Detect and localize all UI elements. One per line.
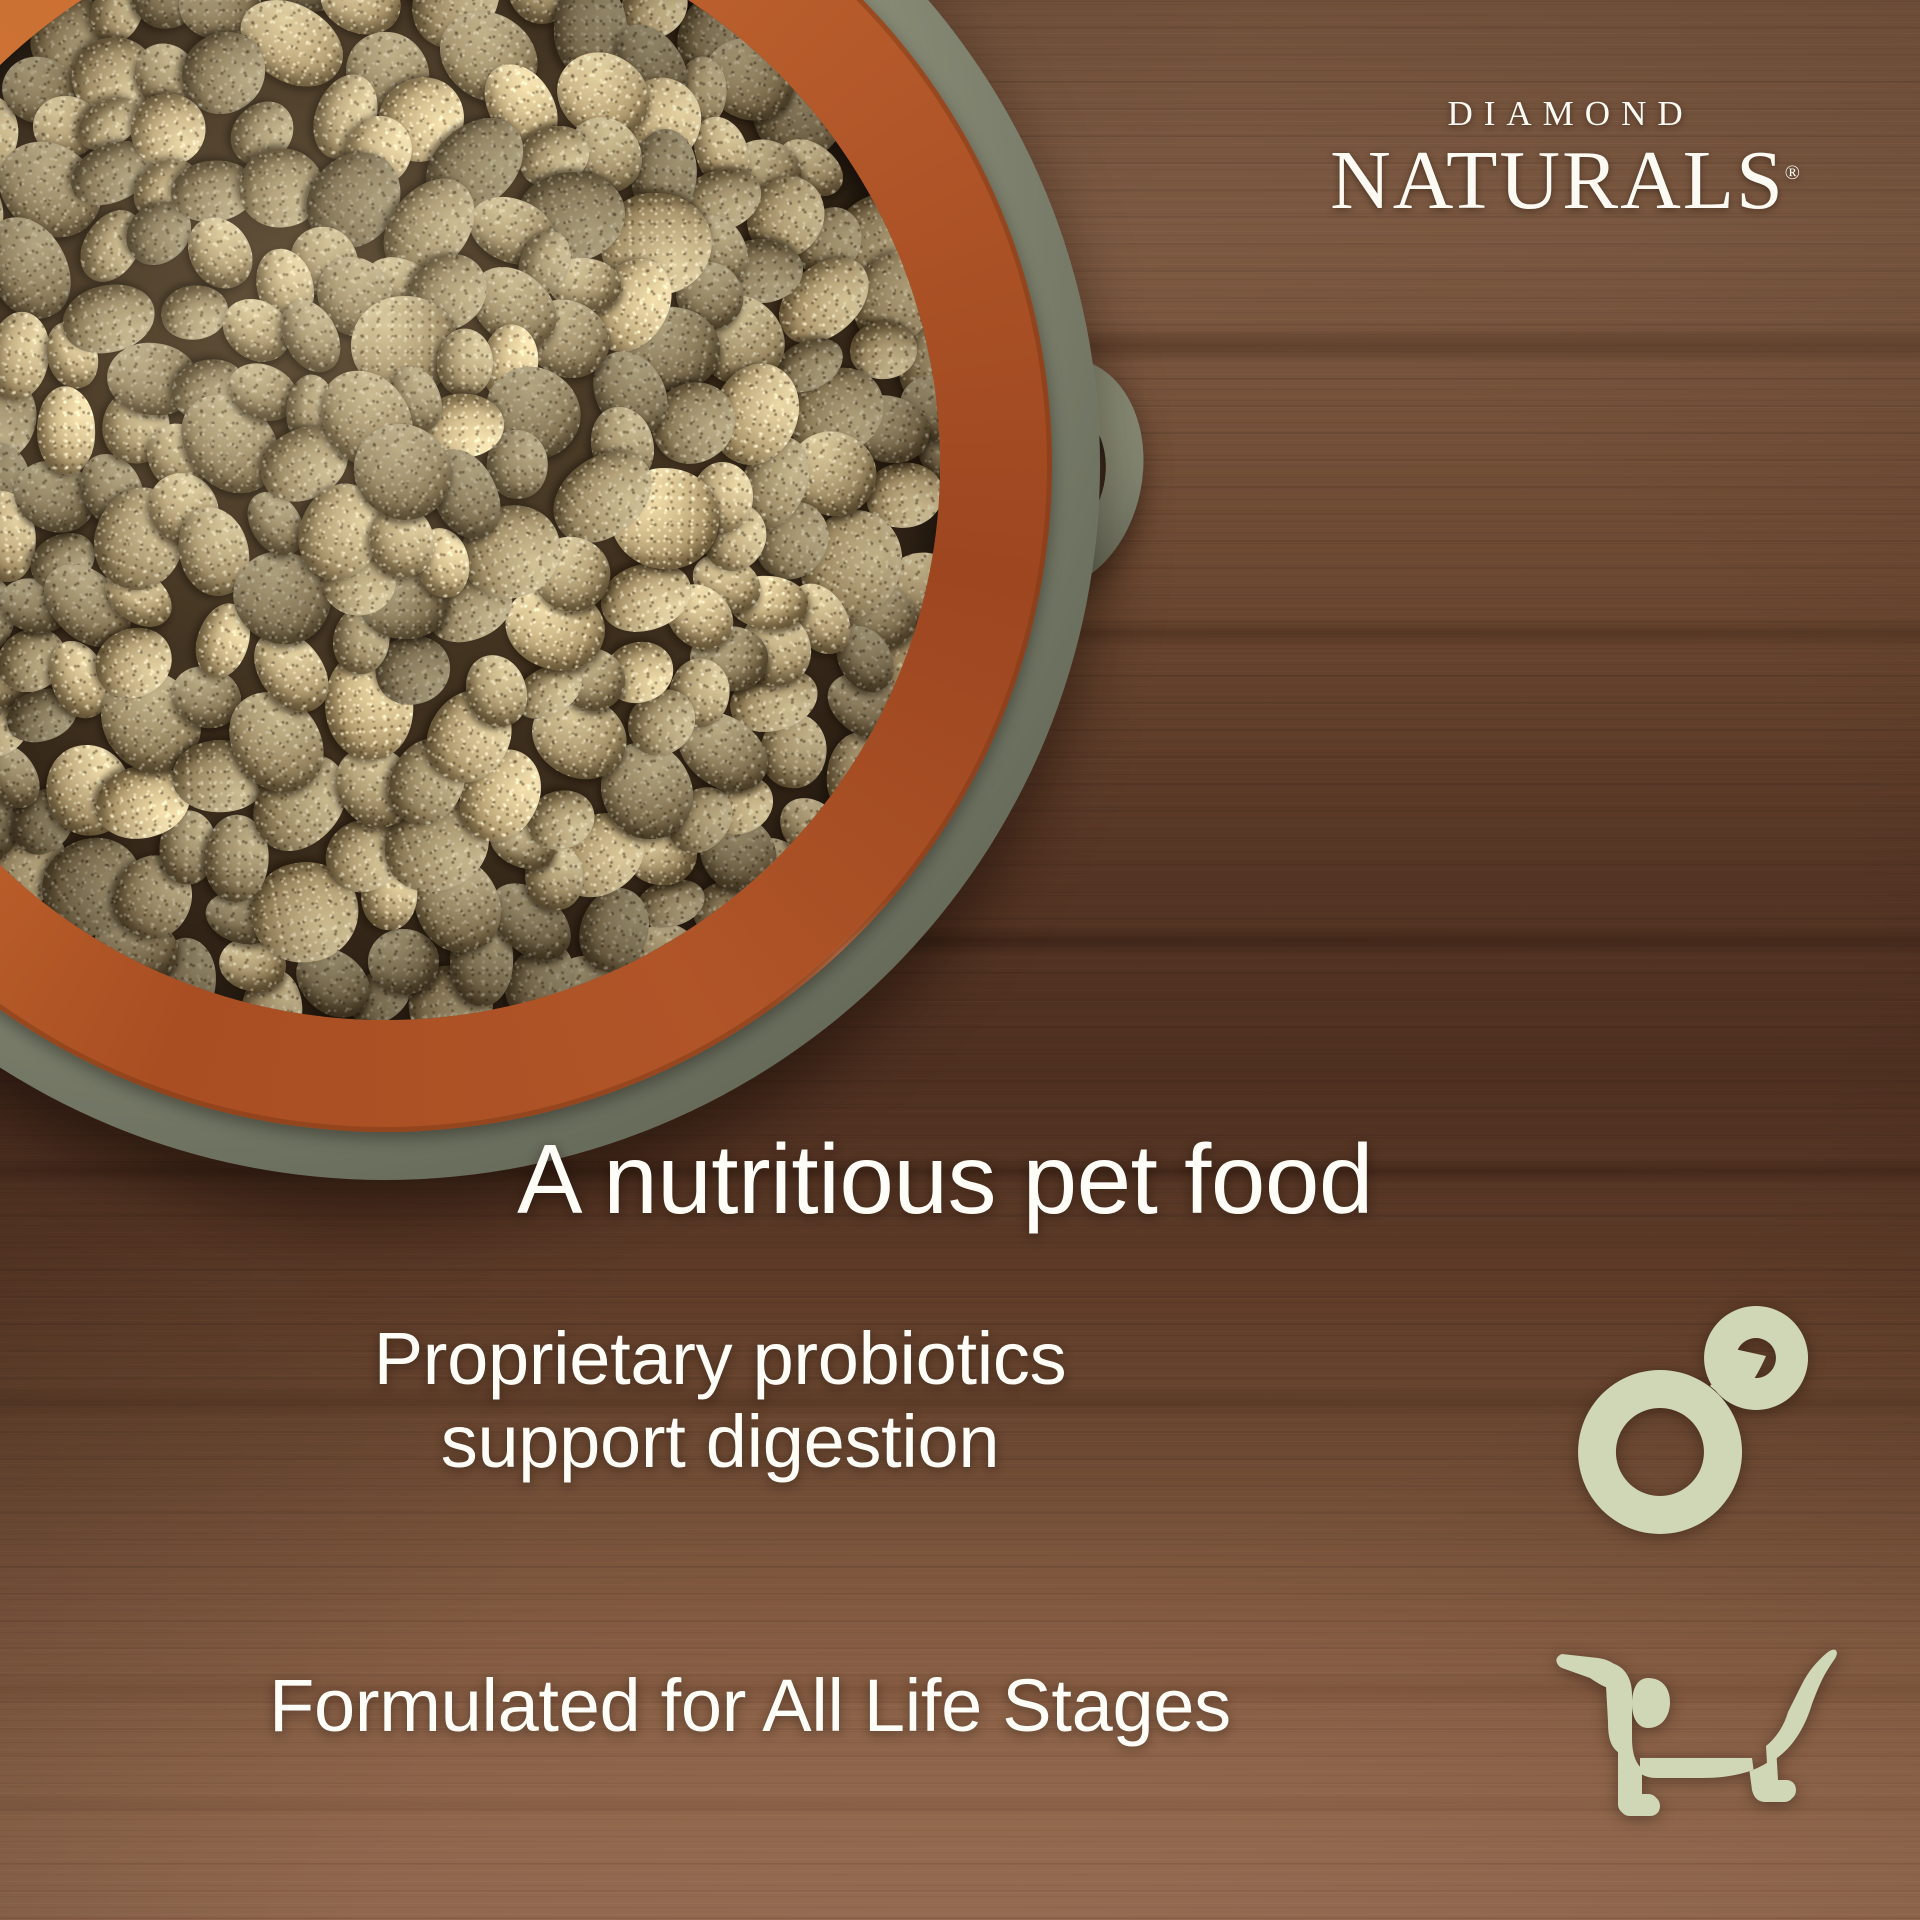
claim-probiotics-line1: Proprietary probiotics (120, 1318, 1320, 1401)
probiotic-rings-icon (1560, 1300, 1820, 1550)
kibble-piece (826, 731, 897, 822)
registered-trademark-icon: ® (1785, 162, 1800, 184)
brand-logo: DIAMOND NATURALS® (1330, 96, 1800, 224)
claim-probiotics: Proprietary probiotics support digestion (120, 1318, 1320, 1484)
claim-probiotics-line2: support digestion (120, 1401, 1320, 1484)
claim-life-stages: Formulated for All Life Stages (60, 1665, 1440, 1746)
page-title: A nutritious pet food (0, 1128, 1890, 1231)
kibble-piece (157, 281, 232, 344)
bowl-interior (0, 0, 940, 1020)
dachshund-dog-icon (1552, 1618, 1842, 1858)
product-feature-image: DIAMOND NATURALS® A nutritious pet food … (0, 0, 1920, 1920)
dog-bowl (0, 0, 1100, 1180)
brand-name-naturals-text: NATURALS (1330, 134, 1785, 227)
kibble-pile (0, 0, 940, 1020)
brand-name-diamond: DIAMOND (1330, 96, 1811, 131)
brand-name-naturals: NATURALS® (1330, 138, 1800, 224)
kibble-piece (437, 328, 493, 397)
